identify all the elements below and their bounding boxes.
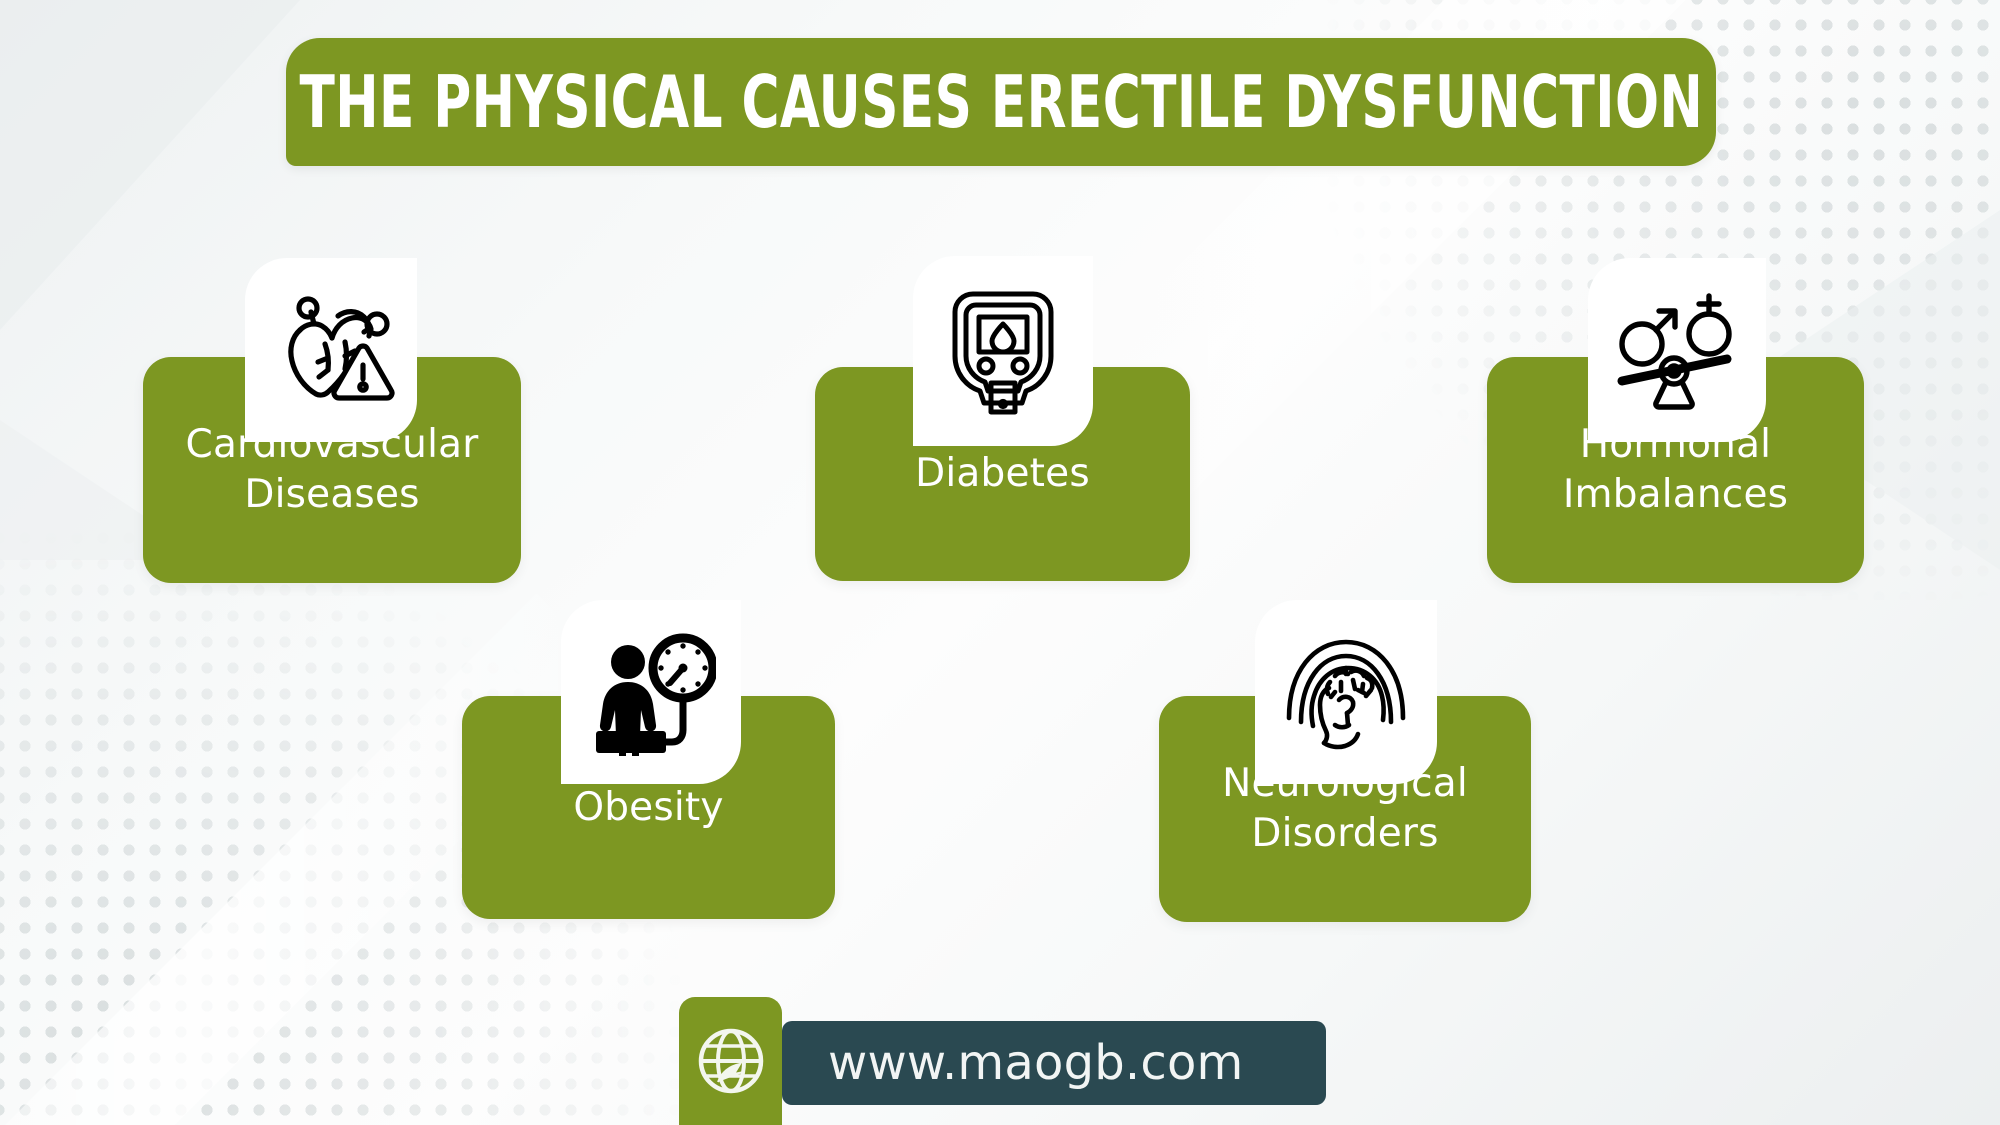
page-title: THE PHYSICAL CAUSES ERECTILE DYSFUNCTION xyxy=(299,66,1703,138)
heart-warning-icon xyxy=(267,286,395,414)
brain-head-icon xyxy=(1283,630,1409,754)
gender-balance-seesaw-icon-tile xyxy=(1588,258,1766,442)
person-on-weight-scale-icon xyxy=(586,628,716,756)
brain-head-icon-tile xyxy=(1255,600,1437,784)
globe-icon xyxy=(696,1026,766,1096)
card-label-diabetes: Diabetes xyxy=(815,449,1190,499)
person-on-weight-scale-icon-tile xyxy=(561,600,741,784)
gender-balance-seesaw-icon xyxy=(1611,287,1743,413)
glucose-meter-icon-tile xyxy=(913,256,1093,446)
glucose-meter-icon xyxy=(943,286,1063,416)
footer-url-bar[interactable]: www.maogb.com xyxy=(782,1021,1326,1105)
title-banner: THE PHYSICAL CAUSES ERECTILE DYSFUNCTION xyxy=(286,38,1716,166)
footer-url-text: www.maogb.com xyxy=(828,1039,1243,1087)
infographic-canvas: THE PHYSICAL CAUSES ERECTILE DYSFUNCTION… xyxy=(0,0,2000,1125)
heart-warning-icon-tile xyxy=(245,258,417,442)
footer-globe-badge xyxy=(679,997,782,1125)
card-label-obesity: Obesity xyxy=(462,783,835,833)
